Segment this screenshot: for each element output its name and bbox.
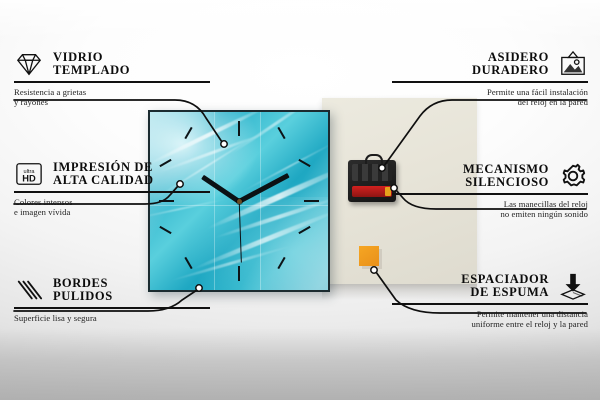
feature-impresion-alta-calidad: ultra HD IMPRESIÓN DE ALTA CALIDAD Color… <box>14 160 210 217</box>
infographic-canvas: VIDRIO TEMPLADO Resistencia a grietas y … <box>0 0 600 400</box>
feature-divider <box>392 81 588 83</box>
feature-title: BORDES PULIDOS <box>53 277 113 304</box>
feature-espaciador-espuma: ESPACIADOR DE ESPUMA Permite mantener un… <box>392 272 588 329</box>
feature-title: ESPACIADOR DE ESPUMA <box>461 273 549 300</box>
ultra-hd-badge-icon: ultra HD <box>14 160 44 188</box>
hanging-frame-icon <box>558 50 588 78</box>
feature-mecanismo-silencioso: MECANISMO SILENCIOSO Las manecillas del … <box>392 162 588 219</box>
mechanism-housing <box>352 164 392 181</box>
feature-description: Las manecillas del reloj no emiten ningú… <box>392 199 588 220</box>
feature-divider <box>392 193 588 195</box>
diamond-icon <box>14 50 44 78</box>
polished-edges-icon <box>14 276 44 304</box>
feature-asidero-duradero: ASIDERO DURADERO Permite una fácil insta… <box>392 50 588 107</box>
feature-vidrio-templado: VIDRIO TEMPLADO Resistencia a grietas y … <box>14 50 210 107</box>
feature-bordes-pulidos: BORDES PULIDOS Superficie lisa y segura <box>14 276 210 323</box>
feature-description: Colores intensos e imagen vívida <box>14 197 210 218</box>
feature-divider <box>14 81 210 83</box>
foam-spacer-arrow-icon <box>558 272 588 300</box>
foam-spacer <box>359 246 379 266</box>
feature-description: Superficie lisa y segura <box>14 313 210 323</box>
feature-divider <box>14 191 210 193</box>
gear-icon <box>558 162 588 190</box>
feature-divider <box>392 303 588 305</box>
clock-mechanism <box>348 160 396 202</box>
feature-description: Permite mantener una distancia uniforme … <box>392 309 588 330</box>
feature-description: Resistencia a grietas y rayones <box>14 87 210 108</box>
clock-center-pin <box>237 199 242 204</box>
feature-title: ASIDERO DURADERO <box>472 51 549 78</box>
svg-text:HD: HD <box>22 173 36 183</box>
feature-divider <box>14 307 210 309</box>
feature-title: IMPRESIÓN DE ALTA CALIDAD <box>53 161 154 188</box>
feature-description: Permite una fácil instalación del reloj … <box>392 87 588 108</box>
feature-title: MECANISMO SILENCIOSO <box>463 163 549 190</box>
mechanism-hanger-icon <box>365 154 383 164</box>
feature-title: VIDRIO TEMPLADO <box>53 51 130 78</box>
battery-terminal <box>385 187 391 196</box>
